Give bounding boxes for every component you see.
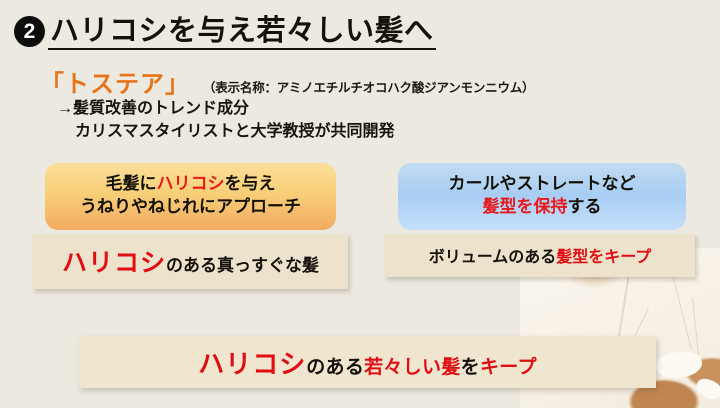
text-segment: を与え bbox=[225, 174, 276, 193]
step-number-badge: 2 bbox=[14, 16, 45, 47]
feature-bubble-right-line2: 髪型を保持する bbox=[404, 196, 680, 219]
feature-column-left: 毛髪にハリコシを与え うねりやねじれにアプローチ ハリコシのある真っすぐな髪 bbox=[33, 163, 348, 289]
banner-highlight-tertiary: キープ bbox=[480, 356, 537, 378]
bullet-codeveloped: カリスマスタイリストと大学教授が共同開発 bbox=[75, 121, 395, 144]
slide-canvas: 2 ハリコシを与え若々しい髪へ 「トステア」 （表示名称：アミノエチルチオコハク… bbox=[0, 0, 720, 408]
summary-banner-text: ハリコシのある若々しい髪をキープ bbox=[198, 344, 537, 381]
texture-vein bbox=[692, 298, 699, 356]
feature-bubble-right-line1: カールやストレートなど bbox=[404, 173, 680, 196]
text-segment-small: など bbox=[602, 174, 636, 193]
texture-chip bbox=[654, 348, 704, 383]
banner-text-segment: のある bbox=[306, 356, 364, 378]
ingredient-bullets: →髪質改善のトレンド成分 カリスマスタイリストと大学教授が共同開発 bbox=[57, 98, 395, 143]
result-highlight: ハリコシ bbox=[62, 248, 166, 277]
text-segment: 毛髪に bbox=[106, 174, 157, 193]
result-text: ボリュームのある bbox=[429, 247, 557, 266]
summary-banner: ハリコシのある若々しい髪をキープ bbox=[79, 336, 656, 388]
feature-result-right: ボリュームのある髪型をキープ bbox=[385, 234, 695, 277]
banner-highlight-secondary: 若々しい髪 bbox=[364, 356, 461, 378]
page-title: ハリコシを与え若々しい髪へ bbox=[48, 13, 436, 50]
text-highlight: 髪型を保持 bbox=[483, 197, 568, 216]
banner-text-segment: を bbox=[461, 356, 480, 378]
ingredient-inci-note: （表示名称：アミノエチルチオコハク酸ジアンモンニウム） bbox=[203, 77, 534, 96]
feature-bubble-left: 毛髪にハリコシを与え うねりやねじれにアプローチ bbox=[45, 163, 336, 230]
result-highlight: 髪型をキープ bbox=[556, 247, 651, 266]
texture-chip bbox=[694, 376, 720, 401]
text-segment: カールやストレート bbox=[449, 174, 602, 193]
feature-result-left: ハリコシのある真っすぐな髪 bbox=[33, 234, 348, 289]
result-text: のある真っすぐな髪 bbox=[166, 256, 319, 276]
slide-header: 2 ハリコシを与え若々しい髪へ bbox=[14, 13, 436, 50]
text-highlight: ハリコシ bbox=[157, 174, 225, 193]
feature-column-right: カールやストレートなど 髪型を保持する ボリュームのある髪型をキープ bbox=[385, 163, 695, 277]
text-segment: する bbox=[568, 197, 602, 216]
feature-bubble-right: カールやストレートなど 髪型を保持する bbox=[398, 163, 686, 230]
ingredient-name: 「トステア」 bbox=[40, 64, 190, 99]
texture-vein bbox=[670, 266, 692, 350]
ingredient-heading: 「トステア」 （表示名称：アミノエチルチオコハク酸ジアンモンニウム） bbox=[40, 64, 534, 99]
feature-bubble-left-line1: 毛髪にハリコシを与え bbox=[51, 173, 330, 196]
feature-bubble-left-line2: うねりやねじれにアプローチ bbox=[51, 196, 330, 219]
banner-highlight-primary: ハリコシ bbox=[198, 350, 306, 380]
bullet-trend-ingredient: →髪質改善のトレンド成分 bbox=[57, 100, 249, 117]
